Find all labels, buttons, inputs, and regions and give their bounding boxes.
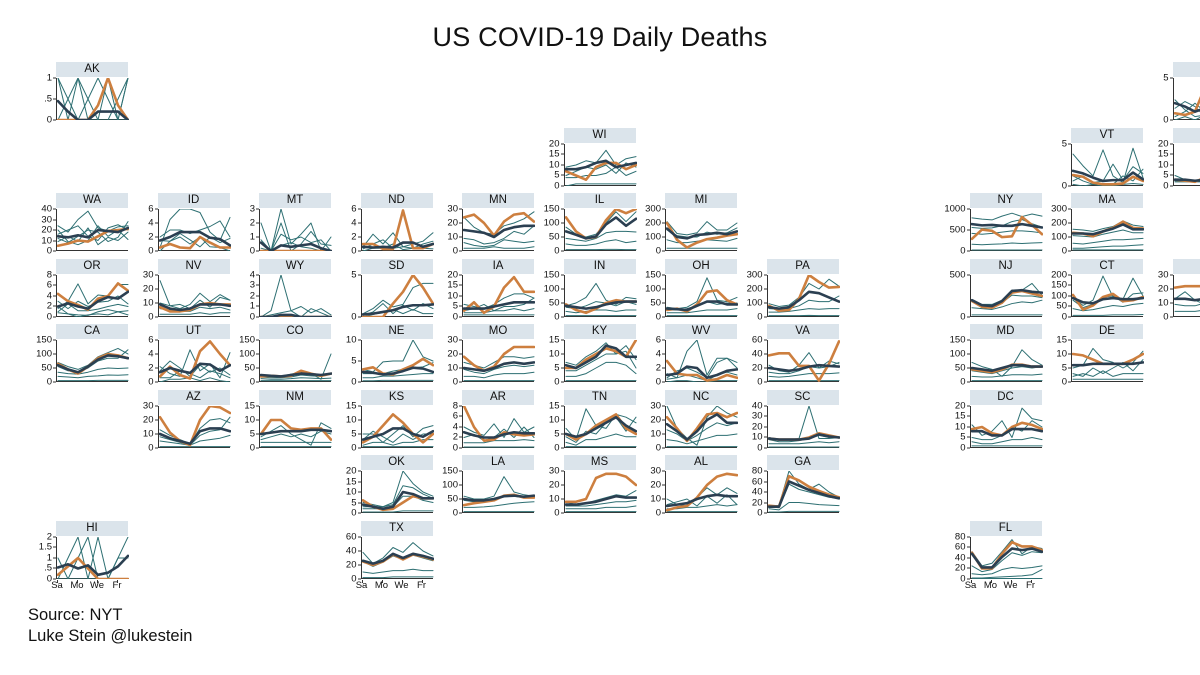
y-tick-label: 20 <box>447 270 458 280</box>
y-axis-pa: 0100200300 <box>739 275 764 317</box>
y-tick-label: 10 <box>447 291 458 301</box>
y-axis-sd: 05 <box>333 275 358 317</box>
y-tick-label: 100 <box>1051 232 1067 242</box>
plot-area-or <box>56 275 128 317</box>
y-tick-label: 0 <box>1163 181 1168 191</box>
series-line-w3 <box>1073 238 1143 244</box>
y-tick-label: 0 <box>1163 312 1168 322</box>
y-tick-label: 10 <box>346 415 357 425</box>
y-tick-label: 20 <box>650 480 661 490</box>
y-tick-label: 150 <box>36 335 52 345</box>
plot-area-nd <box>361 209 433 251</box>
series-line-w1 <box>972 213 1042 220</box>
y-tick-label: 2 <box>656 363 661 373</box>
panel-title-sd: SD <box>361 259 433 274</box>
y-tick-label: 0 <box>960 377 965 387</box>
y-tick-label: 0 <box>554 181 559 191</box>
panel-title-wv: WV <box>665 324 737 339</box>
plot-area-ga <box>767 471 839 513</box>
x-tick-mark <box>402 580 403 583</box>
plot-area-oh <box>665 275 737 317</box>
y-tick-label: 20 <box>41 225 52 235</box>
plot-area-az <box>158 406 230 448</box>
series-line-latest <box>1175 146 1200 182</box>
y-tick-label: 30 <box>447 335 458 345</box>
y-tick-label: 20 <box>752 498 763 508</box>
panel-title-az: AZ <box>158 390 230 405</box>
y-tick-label: 5 <box>351 356 356 366</box>
y-tick-label: 20 <box>447 218 458 228</box>
series-line-w3 <box>464 372 534 378</box>
y-tick-label: 150 <box>544 204 560 214</box>
y-tick-label: 100 <box>239 349 255 359</box>
series-line-w4 <box>160 378 230 382</box>
y-axis-wv: 0246 <box>637 340 662 382</box>
y-tick-label: 0 <box>554 246 559 256</box>
y-tick-label: 60 <box>955 542 966 552</box>
y-axis-mo: 0102030 <box>434 340 459 382</box>
y-axis-ma: 0100200300 <box>1043 209 1068 251</box>
y-tick-label: 2 <box>351 232 356 242</box>
y-tick-label: 0 <box>757 508 762 518</box>
y-axis-al: 0102030 <box>637 471 662 513</box>
y-tick-label: 4 <box>351 218 356 228</box>
y-tick-label: 0 <box>148 312 153 322</box>
y-tick-label: 30 <box>1158 270 1169 280</box>
y-tick-label: 2 <box>148 232 153 242</box>
y-tick-label: 0 <box>656 312 661 322</box>
series-line-w3 <box>972 437 1042 443</box>
y-tick-label: 15 <box>1056 335 1067 345</box>
plot-area-ma <box>1071 209 1143 251</box>
y-tick-label: 2 <box>453 432 458 442</box>
y-axis-ny: 05001000 <box>942 209 967 251</box>
y-tick-label: 10 <box>549 494 560 504</box>
plot-area-ne <box>361 340 433 382</box>
y-tick-label: 20 <box>752 363 763 373</box>
y-tick-label: 1 <box>250 301 255 311</box>
panel-title-ny: NY <box>970 193 1042 208</box>
series-line-w2 <box>160 221 230 237</box>
panel-title-nd: ND <box>361 193 433 208</box>
panel-title-la: LA <box>462 455 534 470</box>
y-axis-wi: 05101520 <box>536 144 561 186</box>
plot-area-nm <box>259 406 331 448</box>
y-tick-label: 0 <box>554 312 559 322</box>
y-tick-label: 200 <box>747 284 763 294</box>
y-axis-de: 051015 <box>1043 340 1068 382</box>
y-axis-az: 0102030 <box>130 406 155 448</box>
y-tick-label: 5 <box>554 429 559 439</box>
y-axis-ar: 02468 <box>434 406 459 448</box>
y-tick-label: 2 <box>47 301 52 311</box>
y-tick-label: 0 <box>757 443 762 453</box>
plot-area-vt <box>1071 144 1143 186</box>
panel-title-ut: UT <box>158 324 230 339</box>
y-axis-ak: 0.51 <box>28 78 53 120</box>
x-tick-mark <box>971 580 972 583</box>
panel-title-oh: OH <box>665 259 737 274</box>
y-tick-label: 10 <box>143 429 154 439</box>
y-tick-label: 30 <box>143 270 154 280</box>
panel-title-nc: NC <box>665 390 737 405</box>
panel-title-nv: NV <box>158 259 230 274</box>
y-tick-label: 6 <box>148 204 153 214</box>
panel-title-mn: MN <box>462 193 534 208</box>
y-tick-label: 30 <box>447 204 458 214</box>
y-tick-label: 20 <box>549 139 560 149</box>
plot-area-hi <box>56 537 128 579</box>
y-tick-label: 20 <box>346 560 357 570</box>
y-tick-label: 10 <box>955 422 966 432</box>
x-axis-fl: SaMoWeFr <box>970 581 1042 593</box>
author-handle: Luke Stein @lukestein <box>28 626 192 647</box>
series-line-w1 <box>261 275 331 317</box>
y-axis-tn: 051015 <box>536 406 561 448</box>
y-tick-label: 0 <box>656 246 661 256</box>
y-tick-label: 40 <box>955 553 966 563</box>
y-tick-label: 0 <box>1062 181 1067 191</box>
y-tick-label: 20 <box>346 466 357 476</box>
series-line-latest <box>566 340 636 368</box>
y-tick-label: 1.5 <box>39 542 52 552</box>
y-axis-co: 050100150 <box>231 340 256 382</box>
y-tick-label: 0 <box>351 377 356 387</box>
y-tick-label: 300 <box>645 204 661 214</box>
series-line-w3 <box>566 240 636 246</box>
x-tick-mark <box>1011 580 1012 583</box>
panel-title-ak: AK <box>56 62 128 77</box>
plot-area-mt <box>259 209 331 251</box>
series-line-w1 <box>566 343 636 365</box>
y-tick-label: .5 <box>44 94 52 104</box>
y-tick-label: 30 <box>650 466 661 476</box>
y-tick-label: 0 <box>554 508 559 518</box>
series-line-w2 <box>1175 301 1200 305</box>
x-tick-mark <box>1031 580 1032 583</box>
y-axis-dc: 05101520 <box>942 406 967 448</box>
panel-title-ct: CT <box>1071 259 1143 274</box>
y-axis-vt: 05 <box>1043 144 1068 186</box>
panel-title-ms: MS <box>564 455 636 470</box>
y-tick-label: 30 <box>549 466 560 476</box>
plot-area-tn <box>564 406 636 448</box>
series-line-w1 <box>1175 289 1200 304</box>
y-tick-label: 0 <box>148 377 153 387</box>
y-tick-label: 15 <box>244 401 255 411</box>
y-tick-label: 5 <box>250 429 255 439</box>
plot-area-nj <box>970 275 1042 317</box>
y-tick-label: 20 <box>549 480 560 490</box>
x-axis-tx: SaMoWeFr <box>361 581 433 593</box>
y-tick-label: 4 <box>656 349 661 359</box>
panel-title-md: MD <box>970 324 1042 339</box>
y-tick-label: 0 <box>250 312 255 322</box>
x-tick-mark <box>117 580 118 583</box>
y-axis-mt: 0123 <box>231 209 256 251</box>
series-line-w4 <box>363 576 433 577</box>
panel-title-ma: MA <box>1071 193 1143 208</box>
y-tick-label: 4 <box>453 422 458 432</box>
y-tick-label: 50 <box>549 298 560 308</box>
y-axis-ky: 051015 <box>536 340 561 382</box>
series-line-prior <box>972 224 1042 227</box>
series-line-w4 <box>363 511 433 512</box>
y-tick-label: 3 <box>250 204 255 214</box>
y-tick-label: 5 <box>960 432 965 442</box>
panel-title-ia: IA <box>462 259 534 274</box>
plot-area-ky <box>564 340 636 382</box>
plot-area-ks <box>361 406 433 448</box>
panel-title-ri: RI <box>1173 259 1200 274</box>
y-tick-label: 50 <box>955 363 966 373</box>
y-axis-ms: 0102030 <box>536 471 561 513</box>
y-tick-label: 5 <box>351 429 356 439</box>
series-line-prior <box>1175 297 1200 300</box>
y-tick-label: 15 <box>955 411 966 421</box>
panel-title-wa: WA <box>56 193 128 208</box>
y-tick-label: 100 <box>1051 291 1067 301</box>
y-tick-label: 100 <box>442 480 458 490</box>
plot-area-ny <box>970 209 1042 251</box>
y-axis-fl: 020406080 <box>942 537 967 579</box>
y-tick-label: 80 <box>752 466 763 476</box>
y-tick-label: 0 <box>757 312 762 322</box>
series-line-latest <box>1175 286 1200 299</box>
y-tick-label: 0 <box>453 246 458 256</box>
y-tick-label: 0 <box>960 312 965 322</box>
series-line-w4 <box>1073 245 1143 249</box>
y-tick-label: 10 <box>244 415 255 425</box>
x-tick-mark <box>77 580 78 583</box>
y-axis-mn: 0102030 <box>434 209 459 251</box>
panel-title-ca: CA <box>56 324 128 339</box>
plot-area-dc <box>970 406 1042 448</box>
plot-area-sd <box>361 275 433 317</box>
y-tick-label: 2 <box>250 218 255 228</box>
y-tick-label: 5 <box>351 270 356 280</box>
y-tick-label: 10 <box>650 494 661 504</box>
y-tick-label: 0 <box>47 312 52 322</box>
y-tick-label: 0 <box>47 377 52 387</box>
y-axis-nv: 0102030 <box>130 275 155 317</box>
plot-area-ri <box>1173 275 1200 317</box>
plot-area-wy <box>259 275 331 317</box>
y-tick-label: 15 <box>346 477 357 487</box>
panel-title-tx: TX <box>361 521 433 536</box>
y-tick-label: 10 <box>143 298 154 308</box>
y-tick-label: 20 <box>955 563 966 573</box>
y-tick-label: 150 <box>239 335 255 345</box>
y-tick-label: 8 <box>453 401 458 411</box>
plot-area-ar <box>462 406 534 448</box>
series-line-w4 <box>464 247 534 248</box>
y-tick-label: 4 <box>47 291 52 301</box>
plot-area-wi <box>564 144 636 186</box>
y-tick-label: 10 <box>346 487 357 497</box>
y-tick-label: 5 <box>554 170 559 180</box>
panel-title-nj: NJ <box>970 259 1042 274</box>
y-tick-label: 5 <box>1163 73 1168 83</box>
plot-area-wa <box>56 209 128 251</box>
panel-title-nm: NM <box>259 390 331 405</box>
y-tick-label: 5 <box>1163 170 1168 180</box>
y-axis-ks: 051015 <box>333 406 358 448</box>
y-axis-la: 050100150 <box>434 471 459 513</box>
x-axis-hi: SaMoWeFr <box>56 581 128 593</box>
plot-area-mi <box>665 209 737 251</box>
panel-title-mo: MO <box>462 324 534 339</box>
y-tick-label: 6 <box>351 204 356 214</box>
x-tick-mark <box>382 580 383 583</box>
y-tick-label: 20 <box>143 415 154 425</box>
plot-area-al <box>665 471 737 513</box>
x-tick-mark <box>422 580 423 583</box>
y-tick-label: 5 <box>1062 139 1067 149</box>
y-tick-label: 40 <box>41 204 52 214</box>
y-tick-label: 10 <box>1158 298 1169 308</box>
y-axis-ct: 050100150200 <box>1043 275 1068 317</box>
plot-area-in <box>564 275 636 317</box>
y-tick-label: 3 <box>250 280 255 290</box>
y-tick-label: 0 <box>351 246 356 256</box>
y-axis-nj: 0500 <box>942 275 967 317</box>
series-line-w3 <box>363 569 433 573</box>
panel-title-or: OR <box>56 259 128 274</box>
y-tick-label: 200 <box>1051 270 1067 280</box>
y-tick-label: 0 <box>656 377 661 387</box>
y-tick-label: 2 <box>250 291 255 301</box>
y-tick-label: 500 <box>950 270 966 280</box>
y-tick-label: 0 <box>656 443 661 453</box>
y-tick-label: 15 <box>346 401 357 411</box>
y-tick-label: 15 <box>1158 149 1169 159</box>
plot-area-il <box>564 209 636 251</box>
plot-area-mn <box>462 209 534 251</box>
y-axis-ri: 0102030 <box>1145 275 1170 317</box>
plot-area-ct <box>1071 275 1143 317</box>
y-tick-label: 40 <box>752 349 763 359</box>
plot-area-id <box>158 209 230 251</box>
panel-title-ne: NE <box>361 324 433 339</box>
panel-title-dc: DC <box>970 390 1042 405</box>
y-tick-label: 100 <box>645 232 661 242</box>
y-axis-sc: 010203040 <box>739 406 764 448</box>
y-tick-label: 20 <box>752 422 763 432</box>
plot-area-ok <box>361 471 433 513</box>
panel-title-in: IN <box>564 259 636 274</box>
panel-title-fl: FL <box>970 521 1042 536</box>
y-tick-label: 0 <box>1062 246 1067 256</box>
y-tick-label: 15 <box>447 280 458 290</box>
y-tick-label: 0 <box>250 377 255 387</box>
series-line-latest <box>363 210 433 249</box>
series-line-w4 <box>972 569 1042 577</box>
panel-title-ks: KS <box>361 390 433 405</box>
panel-title-vt: VT <box>1071 128 1143 143</box>
series-line-w4 <box>1073 314 1143 315</box>
x-tick-mark <box>57 580 58 583</box>
y-tick-label: 20 <box>650 415 661 425</box>
y-tick-label: 10 <box>447 363 458 373</box>
series-line-w1 <box>363 542 433 563</box>
y-tick-label: 6 <box>148 335 153 345</box>
y-tick-label: 40 <box>346 546 357 556</box>
y-tick-label: 10 <box>549 415 560 425</box>
y-tick-label: 1 <box>47 73 52 83</box>
y-axis-mi: 0100200300 <box>637 209 662 251</box>
y-tick-label: 0 <box>47 115 52 125</box>
y-axis-tx: 0204060 <box>333 537 358 579</box>
y-tick-label: 300 <box>747 270 763 280</box>
y-tick-label: 500 <box>950 225 966 235</box>
plot-area-sc <box>767 406 839 448</box>
plot-area-ut <box>158 340 230 382</box>
panel-title-tn: TN <box>564 390 636 405</box>
y-tick-label: 0 <box>250 443 255 453</box>
panel-title-va: VA <box>767 324 839 339</box>
y-axis-va: 0204060 <box>739 340 764 382</box>
y-axis-nd: 0246 <box>333 209 358 251</box>
series-line-w4 <box>1175 115 1200 120</box>
y-tick-label: 0 <box>1163 115 1168 125</box>
y-axis-oh: 050100150 <box>637 275 662 317</box>
plot-area-nc <box>665 406 737 448</box>
y-tick-label: 10 <box>41 236 52 246</box>
y-tick-label: 6 <box>47 280 52 290</box>
y-tick-label: 60 <box>752 477 763 487</box>
y-tick-label: 0 <box>960 246 965 256</box>
series-line-w3 <box>972 374 1042 377</box>
y-axis-nh: 05101520 <box>1145 144 1170 186</box>
series-line-w1 <box>261 422 331 444</box>
series-line-latest <box>972 542 1042 568</box>
panel-title-hi: HI <box>56 521 128 536</box>
y-tick-label: 15 <box>549 335 560 345</box>
y-axis-in: 050100150 <box>536 275 561 317</box>
plot-area-de <box>1071 340 1143 382</box>
plot-area-ms <box>564 471 636 513</box>
y-tick-label: 0 <box>47 246 52 256</box>
y-axis-il: 050100150 <box>536 209 561 251</box>
series-line-w1 <box>769 279 839 306</box>
y-tick-label: 0 <box>1062 312 1067 322</box>
y-tick-label: 4 <box>148 349 153 359</box>
y-tick-label: 1000 <box>944 204 965 214</box>
y-tick-label: 50 <box>244 363 255 373</box>
plot-area-va <box>767 340 839 382</box>
y-tick-label: 2 <box>47 532 52 542</box>
y-tick-label: 150 <box>645 270 661 280</box>
plot-area-pa <box>767 275 839 317</box>
y-tick-label: 0 <box>757 377 762 387</box>
y-tick-label: 6 <box>453 411 458 421</box>
y-tick-label: 200 <box>1051 218 1067 228</box>
panel-title-al: AL <box>665 455 737 470</box>
y-tick-label: 10 <box>1158 160 1169 170</box>
plot-area-co <box>259 340 331 382</box>
panel-title-ok: OK <box>361 455 433 470</box>
y-axis-ia: 05101520 <box>434 275 459 317</box>
y-tick-label: 0 <box>656 508 661 518</box>
y-axis-hi: 0.511.52 <box>28 537 53 579</box>
y-tick-label: 30 <box>41 215 52 225</box>
panel-title-pa: PA <box>767 259 839 274</box>
y-tick-label: 10 <box>752 432 763 442</box>
y-tick-label: 20 <box>447 349 458 359</box>
y-axis-ok: 05101520 <box>333 471 358 513</box>
panel-title-co: CO <box>259 324 331 339</box>
